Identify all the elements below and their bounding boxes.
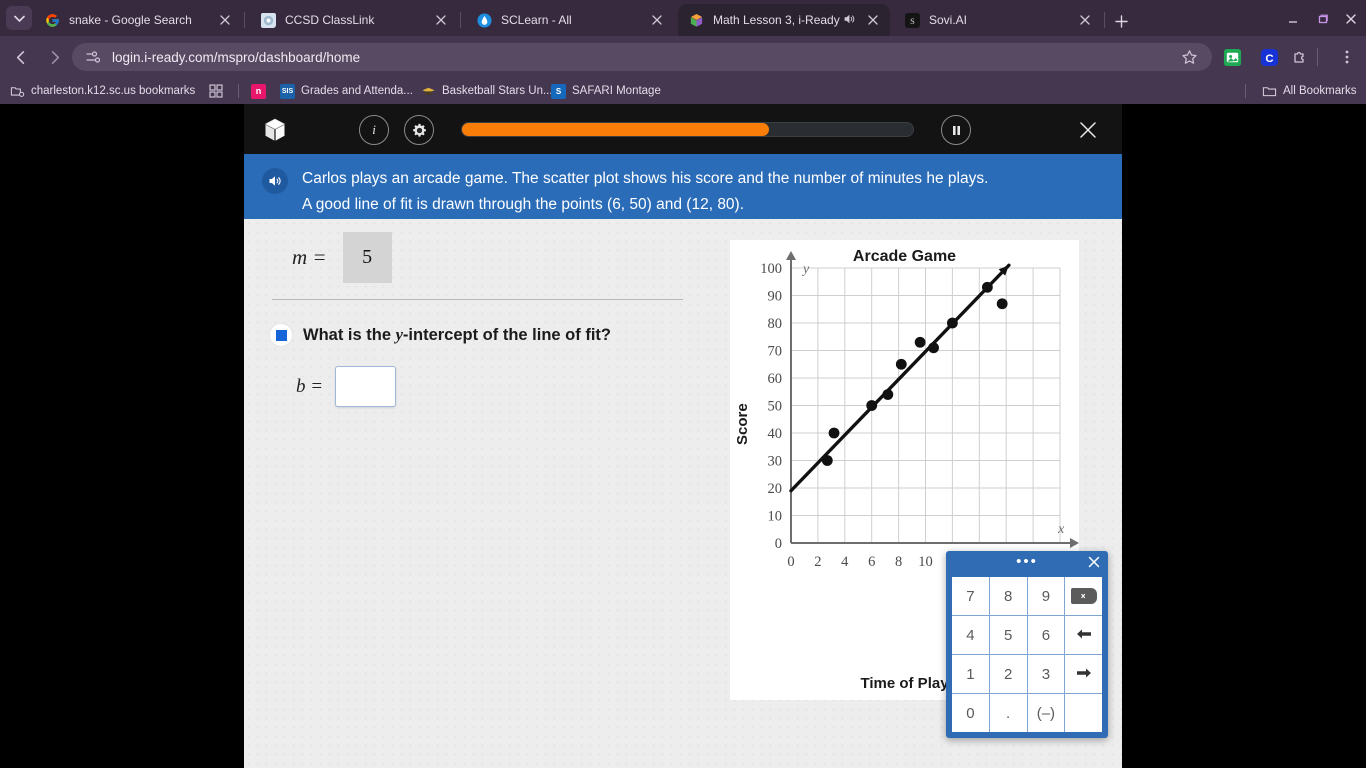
- key-3[interactable]: 3: [1028, 655, 1065, 693]
- iready-icon: [688, 12, 704, 28]
- svg-text:70: 70: [768, 344, 783, 360]
- svg-text:80: 80: [768, 316, 783, 332]
- right-arrow-icon: [1076, 666, 1092, 683]
- key-2[interactable]: 2: [990, 655, 1027, 693]
- bookmark-divider-right: [1245, 84, 1246, 98]
- bookmark-label: charleston.k12.sc.us bookmarks: [31, 85, 195, 97]
- window-maximize-button[interactable]: [1308, 8, 1338, 30]
- lesson-top-bar: i: [244, 104, 1122, 154]
- svg-text:y: y: [801, 262, 810, 277]
- intercept-row: b =: [296, 366, 688, 407]
- forward-button[interactable]: [41, 44, 67, 70]
- svg-text:0: 0: [787, 554, 794, 570]
- tab-close-icon[interactable]: [432, 11, 450, 29]
- settings-gear-button[interactable]: [404, 115, 434, 145]
- section-divider: [272, 299, 683, 300]
- svg-text:x: x: [1057, 522, 1065, 537]
- tab-divider: [244, 12, 245, 28]
- chrome-menu-button[interactable]: [1334, 44, 1360, 70]
- prompt-suffix: -intercept of the line of fit?: [403, 326, 611, 344]
- c-extension-icon[interactable]: C: [1256, 44, 1282, 70]
- negative-key[interactable]: (–): [1028, 694, 1065, 732]
- prompt-variable: y: [396, 325, 403, 344]
- svg-text:0: 0: [775, 536, 782, 552]
- intercept-answer-input[interactable]: [335, 366, 396, 407]
- extensions-puzzle-icon[interactable]: [1288, 44, 1314, 70]
- browser-tab-0[interactable]: snake - Google Search: [34, 4, 242, 36]
- key-9[interactable]: 9: [1028, 577, 1065, 615]
- bookmark-item-apps[interactable]: [208, 81, 223, 101]
- svg-text:8: 8: [895, 554, 902, 570]
- svg-text:20: 20: [768, 481, 783, 497]
- browser-tab-4[interactable]: S Sovi.AI: [894, 4, 1102, 36]
- decimal-key[interactable]: .: [990, 694, 1027, 732]
- keypad-drag-handle[interactable]: •••: [946, 554, 1108, 569]
- banner-line-1: Carlos plays an arcade game. The scatter…: [302, 166, 988, 192]
- browser-tab-2[interactable]: SCLearn - All: [466, 4, 674, 36]
- bookmark-divider: [238, 84, 239, 98]
- key-8[interactable]: 8: [990, 577, 1027, 615]
- key-0[interactable]: 0: [952, 694, 989, 732]
- tab-close-icon[interactable]: [1076, 11, 1094, 29]
- speaker-icon[interactable]: [262, 168, 288, 194]
- folder-icon: [1262, 84, 1277, 99]
- tab-title: CCSD ClassLink: [285, 13, 432, 27]
- window-close-button[interactable]: [1336, 8, 1366, 30]
- key-4[interactable]: 4: [952, 616, 989, 654]
- info-button[interactable]: i: [359, 115, 389, 145]
- left-arrow-icon: [1076, 627, 1092, 644]
- browser-tab-strip: snake - Google Search CCSD ClassLink SCL…: [0, 0, 1366, 36]
- bookmark-item-charleston[interactable]: charleston.k12.sc.us bookmarks: [10, 81, 195, 101]
- svg-text:30: 30: [768, 454, 783, 470]
- browser-tab-1[interactable]: CCSD ClassLink: [250, 4, 458, 36]
- screenshot-extension-icon[interactable]: [1219, 44, 1245, 70]
- question-prompt-row: What is the y-intercept of the line of f…: [270, 324, 688, 346]
- folder-settings-icon: [10, 84, 25, 99]
- graduation-cap-icon: [421, 84, 436, 99]
- tab-search-button[interactable]: [6, 6, 32, 30]
- sovi-icon: S: [904, 12, 920, 28]
- new-tab-button[interactable]: [1108, 8, 1134, 34]
- intercept-label: b =: [296, 376, 323, 398]
- nearpod-icon: n: [251, 84, 266, 99]
- toolbar-divider: [1316, 44, 1318, 70]
- svg-text:10: 10: [918, 554, 933, 570]
- bookmark-item-nearpod[interactable]: n: [251, 81, 266, 101]
- tab-title: Math Lesson 3, i-Ready: [713, 13, 842, 27]
- google-icon: [44, 12, 60, 28]
- keypad-header[interactable]: •••: [946, 551, 1108, 575]
- svg-text:S: S: [910, 15, 915, 25]
- window-minimize-button[interactable]: [1278, 8, 1308, 30]
- apps-grid-icon: [208, 84, 223, 99]
- svg-text:2: 2: [814, 554, 821, 570]
- sclearn-icon: [476, 12, 492, 28]
- svg-text:100: 100: [760, 261, 782, 277]
- bookmark-label: Basketball Stars Un...: [442, 85, 553, 97]
- all-bookmarks-button[interactable]: All Bookmarks: [1262, 81, 1357, 101]
- keypad-close-icon[interactable]: [1086, 554, 1102, 570]
- slope-row: m = 5: [258, 229, 688, 285]
- sis-icon: SIS: [280, 84, 295, 99]
- tab-title: snake - Google Search: [69, 13, 216, 27]
- tab-divider: [460, 12, 461, 28]
- tab-title: SCLearn - All: [501, 13, 648, 27]
- address-bar[interactable]: login.i-ready.com/mspro/dashboard/home: [72, 43, 1212, 71]
- screen: snake - Google Search CCSD ClassLink SCL…: [0, 0, 1366, 768]
- svg-text:6: 6: [868, 554, 875, 570]
- left-arrow-key[interactable]: [1065, 616, 1102, 654]
- tab-divider: [1104, 12, 1105, 28]
- slope-value: 5: [343, 232, 392, 283]
- svg-text:50: 50: [768, 399, 783, 415]
- tab-close-icon[interactable]: [216, 11, 234, 29]
- slope-label: m =: [292, 245, 327, 270]
- svg-text:90: 90: [768, 289, 783, 305]
- key-6[interactable]: 6: [1028, 616, 1065, 654]
- backspace-key[interactable]: [1065, 577, 1102, 615]
- pause-button[interactable]: [941, 115, 971, 145]
- close-lesson-button[interactable]: [1076, 118, 1100, 142]
- key-1[interactable]: 1: [952, 655, 989, 693]
- site-settings-icon[interactable]: [84, 48, 102, 66]
- question-bullet-icon: [270, 324, 292, 346]
- bookmark-label: SAFARI Montage: [572, 85, 661, 97]
- safari-montage-icon: S: [551, 84, 566, 99]
- browser-toolbar: login.i-ready.com/mspro/dashboard/home C: [0, 36, 1366, 78]
- bookmarks-bar: charleston.k12.sc.us bookmarks n SIS Gra…: [0, 78, 1366, 104]
- svg-text:60: 60: [768, 371, 783, 387]
- problem-banner: Carlos plays an arcade game. The scatter…: [244, 154, 1122, 219]
- back-button[interactable]: [8, 44, 34, 70]
- cube-logo-icon: [262, 117, 288, 143]
- info-label: i: [372, 122, 376, 138]
- tab-title: Sovi.AI: [929, 13, 1076, 27]
- tab-close-icon[interactable]: [864, 11, 882, 29]
- tab-close-icon[interactable]: [648, 11, 666, 29]
- lesson-progress-bar: [461, 122, 914, 137]
- tab-audio-icon[interactable]: [842, 12, 858, 28]
- svg-text:10: 10: [768, 509, 783, 525]
- svg-text:40: 40: [768, 426, 783, 442]
- bookmark-item-basketball[interactable]: Basketball Stars Un...: [421, 81, 553, 101]
- bookmark-star-icon[interactable]: [1176, 44, 1202, 70]
- numeric-keypad: ••• 7894561230.(–): [946, 551, 1108, 738]
- blank-key[interactable]: [1065, 694, 1102, 732]
- key-5[interactable]: 5: [990, 616, 1027, 654]
- classlink-icon: [260, 12, 276, 28]
- svg-text:C: C: [1265, 52, 1273, 64]
- bookmark-item-safari-montage[interactable]: S SAFARI Montage: [551, 81, 661, 101]
- bookmark-item-grades[interactable]: SIS Grades and Attenda...: [280, 81, 413, 101]
- svg-text:4: 4: [841, 554, 849, 570]
- keypad-key-grid: 7894561230.(–): [952, 577, 1102, 732]
- bookmark-label: Grades and Attenda...: [301, 85, 413, 97]
- prompt-prefix: What is the: [303, 326, 396, 344]
- question-panel: m = 5 What is the y-intercept of the lin…: [258, 229, 688, 407]
- question-prompt: What is the y-intercept of the line of f…: [303, 325, 611, 345]
- address-bar-url: login.i-ready.com/mspro/dashboard/home: [112, 50, 360, 65]
- right-arrow-key[interactable]: [1065, 655, 1102, 693]
- all-bookmarks-label: All Bookmarks: [1283, 85, 1357, 97]
- lesson-progress-fill: [462, 123, 769, 136]
- backspace-icon: [1071, 588, 1097, 604]
- browser-tab-3-active[interactable]: Math Lesson 3, i-Ready: [678, 4, 890, 36]
- key-7[interactable]: 7: [952, 577, 989, 615]
- banner-line-2: A good line of fit is drawn through the …: [302, 192, 988, 218]
